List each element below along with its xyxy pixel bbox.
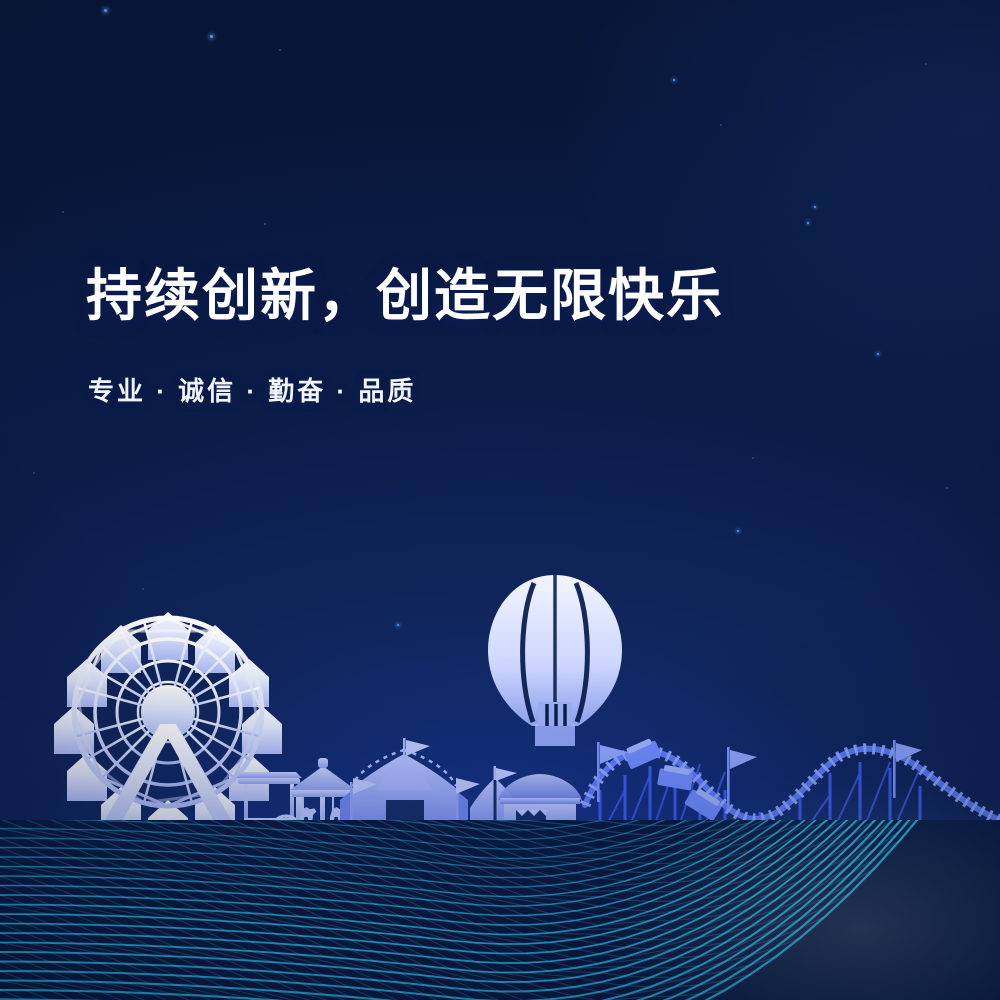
page-subtitle: 专业 · 诚信 · 勤奋 · 品质 — [88, 374, 416, 408]
promo-banner: 持续创新，创造无限快乐 专业 · 诚信 · 勤奋 · 品质 — [0, 0, 1000, 1000]
vignette-overlay — [0, 0, 1000, 1000]
page-title: 持续创新，创造无限快乐 — [86, 264, 724, 328]
